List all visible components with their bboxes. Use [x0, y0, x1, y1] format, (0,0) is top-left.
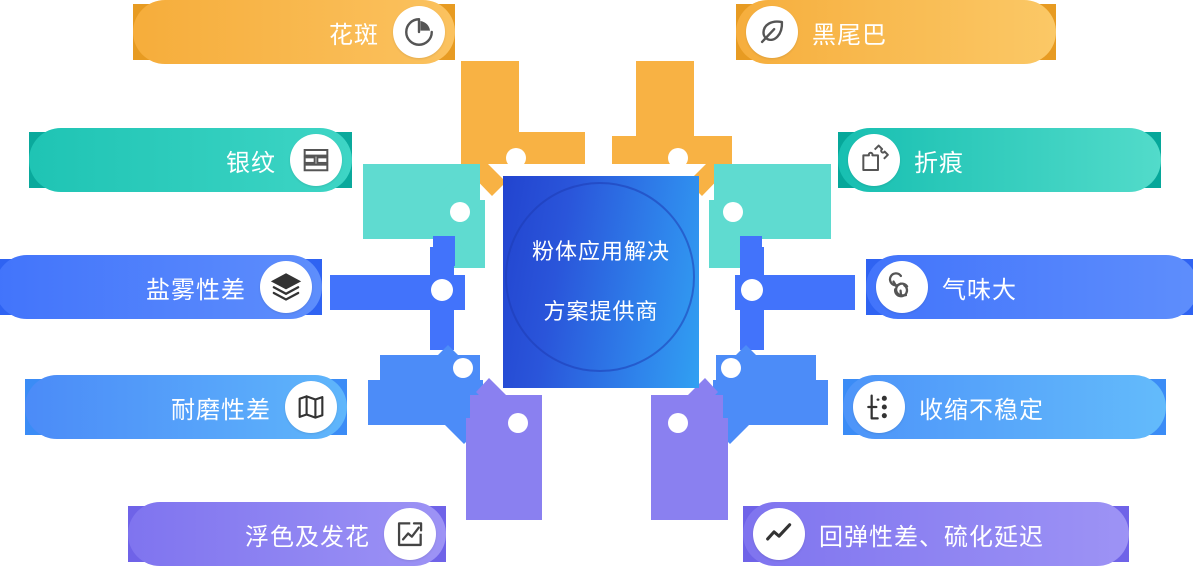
label-text: 收缩不稳定: [919, 390, 1044, 425]
layers-icon: [260, 261, 312, 313]
label-pill-huitanxingcha[interactable]: 回弹性差、硫化延迟: [743, 502, 1129, 566]
leaf-icon: [746, 6, 798, 58]
label-text: 盐雾性差: [146, 270, 246, 305]
label-pill-yinwen[interactable]: 银纹: [29, 128, 352, 192]
pie-chart-icon: [393, 6, 445, 58]
label-text: 浮色及发花: [245, 517, 370, 552]
brick-wall-icon: [290, 134, 342, 186]
recycle-icon: [876, 261, 928, 313]
label-pill-zhehen[interactable]: 折痕: [838, 128, 1161, 192]
label-pill-yanwuxingcha[interactable]: 盐雾性差: [0, 255, 322, 319]
line-chart-icon: [753, 508, 805, 560]
label-text: 花斑: [329, 15, 379, 50]
puzzle-icon: [848, 134, 900, 186]
label-text: 气味大: [942, 270, 1017, 305]
hierarchy-icon: [853, 381, 905, 433]
label-pill-qiweida[interactable]: 气味大: [866, 255, 1193, 319]
label-pill-heiweiba[interactable]: 黑尾巴: [736, 0, 1056, 64]
label-pill-naimoxingcha[interactable]: 耐磨性差: [25, 375, 347, 439]
label-pill-fusejifahua[interactable]: 浮色及发花: [128, 502, 446, 566]
label-text: 黑尾巴: [812, 15, 887, 50]
label-text: 回弹性差、硫化延迟: [819, 517, 1044, 552]
map-icon: [285, 381, 337, 433]
label-text: 折痕: [914, 143, 964, 178]
label-layer: 花斑: [0, 0, 1193, 577]
label-text: 耐磨性差: [171, 390, 271, 425]
diagram-canvas: 粉体应用解决 方案提供商 花斑: [0, 0, 1193, 577]
chart-arrow-icon: [384, 508, 436, 560]
label-pill-huaban[interactable]: 花斑: [133, 0, 455, 64]
label-pill-shousuobuwending[interactable]: 收缩不稳定: [843, 375, 1166, 439]
label-text: 银纹: [226, 143, 276, 178]
